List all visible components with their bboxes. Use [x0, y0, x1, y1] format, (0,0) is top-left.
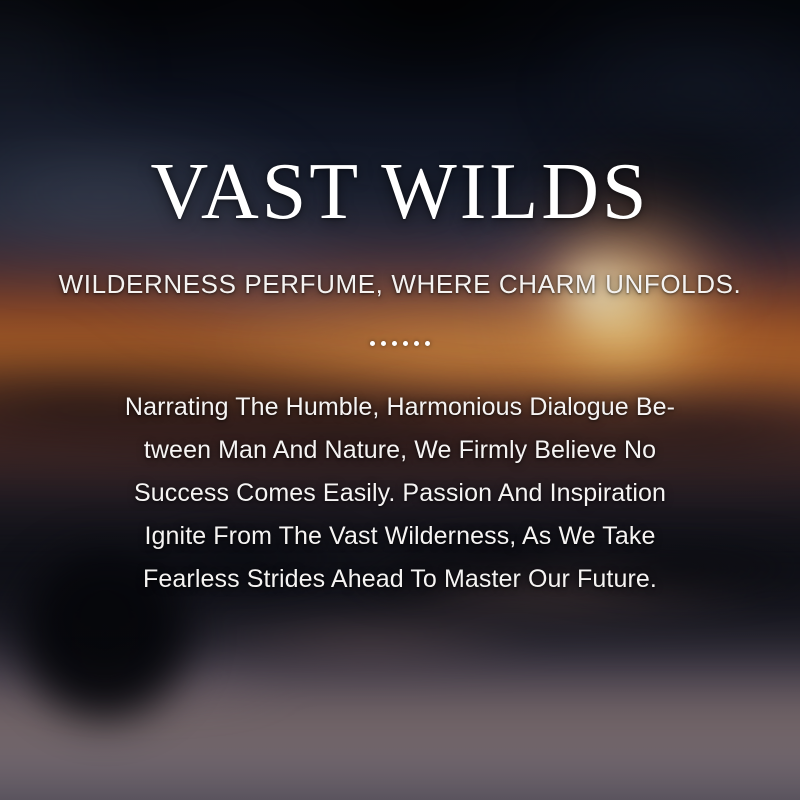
- divider-dot-icon: [414, 341, 419, 346]
- divider-dot-icon: [392, 341, 397, 346]
- body-line: Narrating The Humble, Harmonious Dialogu…: [78, 386, 722, 429]
- dot-divider: [0, 341, 800, 346]
- poster-content: VAST WILDS WILDERNESS PERFUME, WHERE CHA…: [0, 0, 800, 800]
- body-line: Success Comes Easily. Passion And Inspir…: [78, 472, 722, 515]
- divider-dot-icon: [403, 341, 408, 346]
- body-line: Ignite From The Vast Wilderness, As We T…: [78, 515, 722, 558]
- poster-subtitle: WILDERNESS PERFUME, WHERE CHARM UNFOLDS.: [0, 270, 800, 300]
- poster-canvas: VAST WILDS WILDERNESS PERFUME, WHERE CHA…: [0, 0, 800, 800]
- poster-body-text: Narrating The Humble, Harmonious Dialogu…: [78, 386, 722, 601]
- divider-dot-icon: [370, 341, 375, 346]
- body-line: Fearless Strides Ahead To Master Our Fut…: [78, 558, 722, 601]
- body-line: tween Man And Nature, We Firmly Believe …: [78, 429, 722, 472]
- divider-dot-icon: [381, 341, 386, 346]
- poster-title: VAST WILDS: [0, 152, 800, 232]
- divider-dot-icon: [425, 341, 430, 346]
